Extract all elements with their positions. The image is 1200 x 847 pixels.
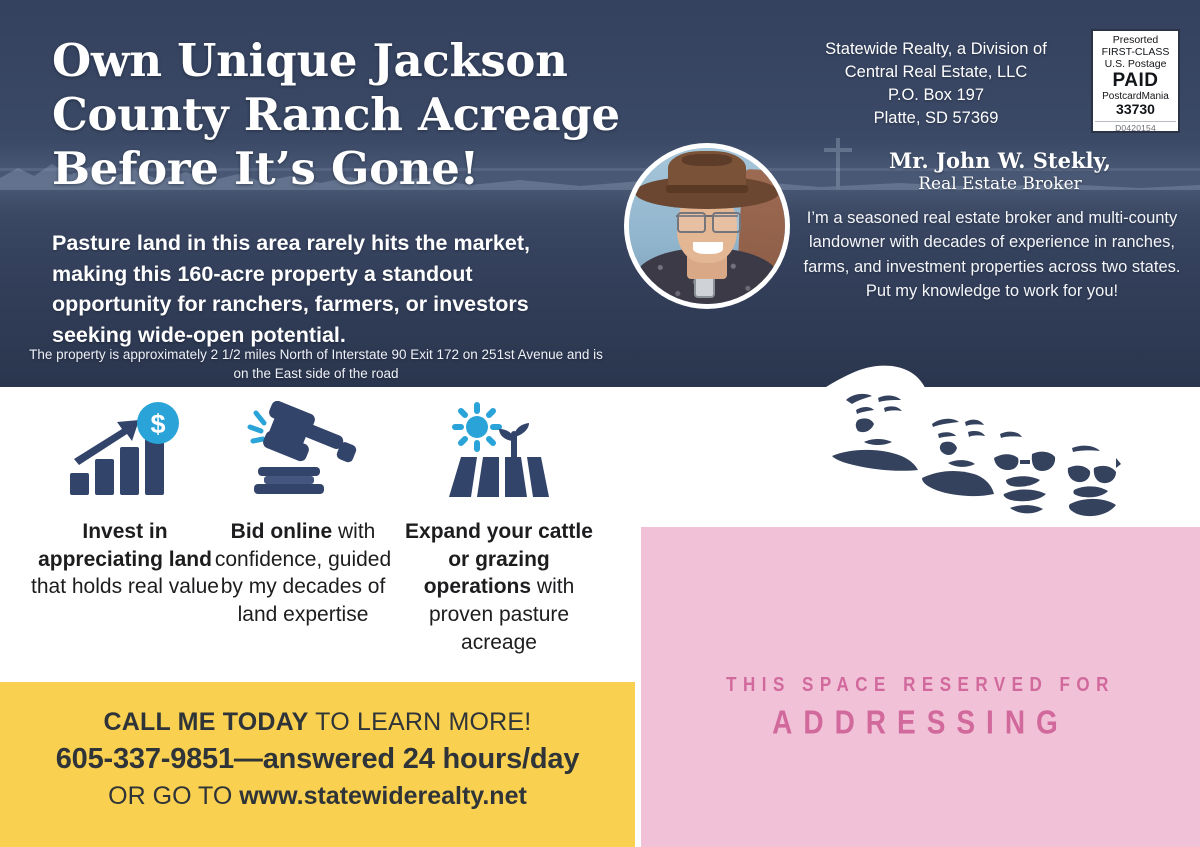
broker-title: Real Estate Broker [800,174,1200,194]
headline-line-2: County Ranch Acreage [52,88,672,142]
benefit-1-icon-wrap: $ [30,392,220,510]
company-city-state-zip: Platte, SD 57369 [800,107,1072,130]
cta-call-me-today: CALL ME TODAY [104,708,309,736]
cowboy-hat-band [666,185,747,193]
cta-phone-number[interactable]: 605-337-9851—answered 24 hours/day [0,743,635,776]
hero-banner: Own Unique Jackson County Ranch Acreage … [0,0,1200,387]
benefit-1-rest: that holds real value [31,575,219,598]
growth-chart-dollar-icon: $ [66,401,184,501]
broker-bio: I’m a seasoned real estate broker and mu… [796,206,1188,303]
benefit-3-caption: Expand your cattle or grazing operations… [404,518,594,657]
benefit-item-1: $ Invest in appreciating land that holds… [30,392,220,601]
eyeglass-lens-left [677,212,706,233]
indicia-permit-zip: 33730 [1095,102,1176,117]
cta-website-url[interactable]: www.statewiderealty.net [239,782,527,810]
benefit-2-bold: Bid online [231,520,333,543]
property-location-note: The property is approximately 2 1/2 mile… [26,345,606,383]
cta-line-3: OR GO TO www.statewiderealty.net [0,782,635,811]
indicia-tracking-code: D0420154 [1095,121,1176,134]
cta-learn-more: TO LEARN MORE! [308,708,531,736]
indicia-paid: PAID [1095,71,1176,91]
gavel-auction-icon [244,401,362,501]
headline-line-1: Own Unique Jackson [52,34,672,88]
call-to-action-block: CALL ME TODAY TO LEARN MORE! 605-337-985… [0,682,635,847]
benefit-3-icon-wrap [404,392,594,510]
address-panel-line-2: ADDRESSING [641,704,1200,742]
eyeglass-lens-right [712,212,741,233]
benefit-2-icon-wrap [208,392,398,510]
postage-indicia: Presorted FIRST-CLASS U.S. Postage PAID … [1091,29,1180,133]
benefit-1-bold: Invest in appreciating land [38,520,212,571]
postcard: Own Unique Jackson County Ranch Acreage … [0,0,1200,847]
benefit-1-caption: Invest in appreciating land that holds r… [30,518,220,601]
company-name-line-1: Statewide Realty, a Division of [800,38,1072,61]
company-address-block: Statewide Realty, a Division of Central … [800,38,1072,130]
portrait-smile [693,242,723,254]
page-title: Own Unique Jackson County Ranch Acreage … [52,34,672,196]
company-po-box: P.O. Box 197 [800,84,1072,107]
address-panel-line-1: THIS SPACE RESERVED FOR [641,673,1200,697]
broker-name: Mr. John W. Stekly, [800,148,1200,173]
benefit-item-3: Expand your cattle or grazing operations… [404,392,594,657]
broker-portrait-avatar [624,143,790,309]
headline-line-3: Before It’s Gone! [52,142,672,196]
benefits-row: $ Invest in appreciating land that holds… [0,392,640,682]
pasture-field-sun-icon [439,401,559,501]
benefit-item-2: Bid online with confidence, guided by my… [208,392,398,629]
address-reserved-panel: THIS SPACE RESERVED FOR ADDRESSING [641,527,1200,847]
cta-or-go-to: OR GO TO [108,782,239,810]
cta-line-1: CALL ME TODAY TO LEARN MORE! [0,708,635,737]
hero-subheadline: Pasture land in this area rarely hits th… [52,228,592,351]
svg-text:$: $ [150,409,165,439]
benefit-2-caption: Bid online with confidence, guided by my… [208,518,398,629]
company-name-line-2: Central Real Estate, LLC [800,61,1072,84]
